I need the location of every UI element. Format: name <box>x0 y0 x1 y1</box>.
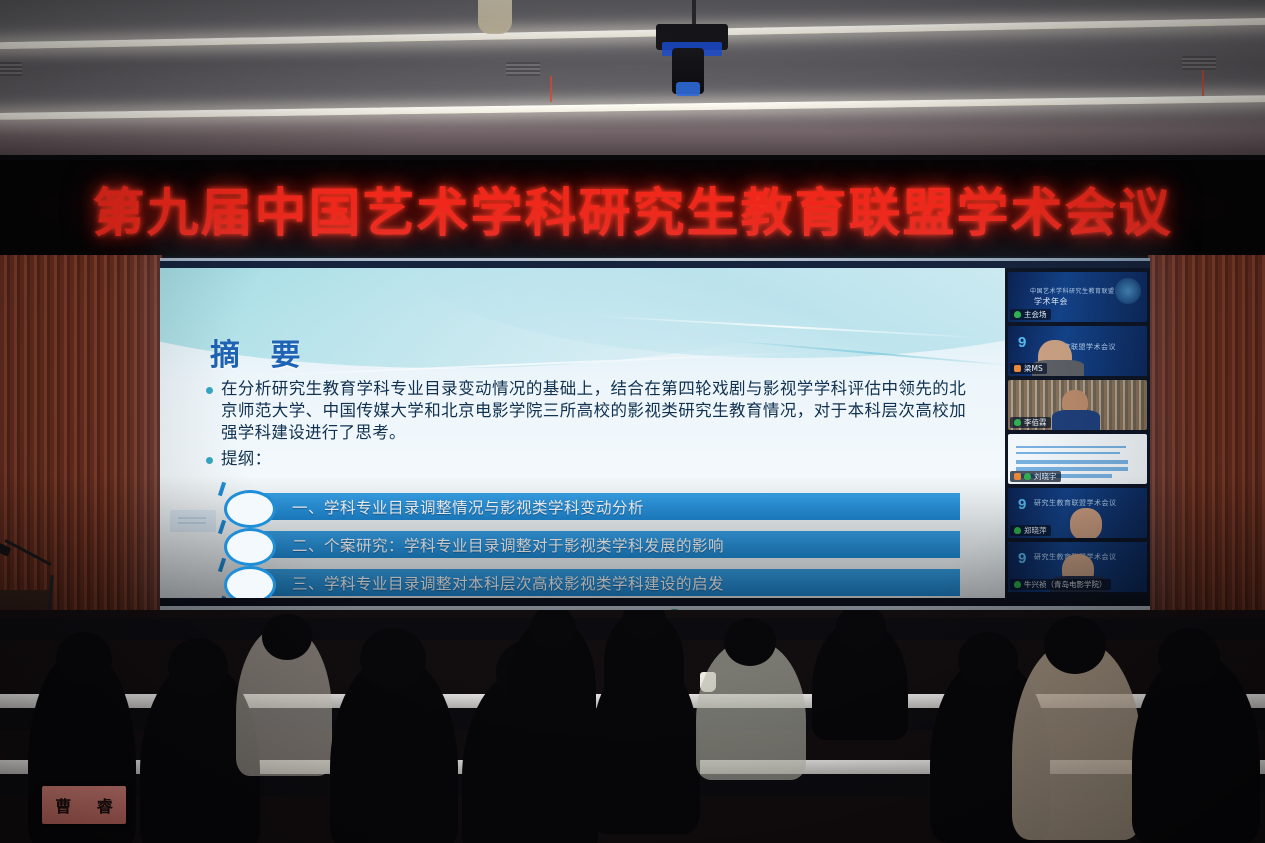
audience-head <box>724 618 776 666</box>
outline-connector <box>218 596 226 598</box>
desk-nameplate: 曹 睿 <box>42 786 126 824</box>
participant-name: 郑晓萍 <box>1024 525 1047 536</box>
tile-banner-title: 研究生教育联盟学术会议 <box>1034 498 1117 508</box>
audience-head <box>958 632 1018 688</box>
outline-row: 三、学科专业目录调整对本科层次高校影视类学科建设的启发 <box>200 566 970 598</box>
participant-name: 刘晓宇 <box>1034 471 1057 482</box>
slide-bullet-item: 在分析研究生教育学科专业目录变动情况的基础上，结合在第四轮戏剧与影视学学科评估中… <box>206 378 966 444</box>
participant-name: 梁MS <box>1024 363 1043 374</box>
slide-outline-list: 一、学科专业目录调整情况与影视类学科变动分析 二、个案研究：学科专业目录调整对于… <box>200 490 970 598</box>
slide-bullet-list: 在分析研究生教育学科专业目录变动情况的基础上，结合在第四轮戏剧与影视学学科评估中… <box>206 378 966 474</box>
ceiling <box>0 0 1265 160</box>
participant-tile-2[interactable]: 9 教育联盟学术会议 梁MS <box>1008 326 1147 376</box>
mic-on-icon <box>1014 419 1021 426</box>
participant-tile-5[interactable]: 9 研究生教育联盟学术会议 郑晓萍 <box>1008 488 1147 538</box>
tile-banner-subtitle: 学术年会 <box>1034 296 1068 307</box>
conference-hall-photo: 第九届中国艺术学科研究生教育联盟学术会议 摘 要 在分析研究生教育学科专业目录变… <box>0 0 1265 843</box>
slide-bullet-item: 提纲： <box>206 448 966 470</box>
outline-circle-icon <box>224 490 276 528</box>
presenter-badge-icon <box>1014 473 1021 480</box>
document-line <box>1016 460 1128 464</box>
participant-video-strip[interactable]: 中国艺术学科研究生教育联盟 学术年会 主会场 9 教育联盟学术会议 梁MS <box>1005 268 1150 598</box>
led-banner-text: 第九届中国艺术学科研究生教育联盟学术会议 <box>92 171 1172 246</box>
ceiling-vent-left <box>506 62 540 76</box>
outline-circle-icon <box>224 528 276 566</box>
document-line <box>1016 446 1126 448</box>
audience-area <box>0 610 1265 843</box>
participant-shoulders <box>1052 410 1100 430</box>
outline-bar: 三、学科专业目录调整对本科层次高校影视类学科建设的启发 <box>256 569 960 596</box>
participant-tile-3[interactable]: 李佰霖 <box>1008 380 1147 430</box>
mic-on-icon <box>1014 527 1021 534</box>
outline-item-text: 三、学科专业目录调整对本科层次高校影视类学科建设的启发 <box>256 572 724 594</box>
participant-tile-1[interactable]: 中国艺术学科研究生教育联盟 学术年会 主会场 <box>1008 272 1147 322</box>
ceiling-light-strip-lower <box>0 95 1265 121</box>
tile-edition-number: 9 <box>1018 550 1026 567</box>
tile-banner-title: 中国艺术学科研究生教育联盟 <box>1030 286 1115 295</box>
mic-muted-icon <box>1014 365 1021 372</box>
participant-name-bar: 牛兴祯（青岛电影学院） <box>1010 579 1111 590</box>
outline-row: 一、学科专业目录调整情况与影视类学科变动分析 <box>200 490 970 524</box>
projection-screen: 摘 要 在分析研究生教育学科专业目录变动情况的基础上，结合在第四轮戏剧与影视学学… <box>160 258 1150 610</box>
participant-name: 主会场 <box>1024 309 1047 320</box>
outline-connector <box>218 482 226 497</box>
participant-name-bar: 刘晓宇 <box>1010 471 1061 482</box>
stage-spotlight <box>648 0 736 101</box>
outline-circle-icon <box>224 566 276 598</box>
outline-item-text: 二、个案研究：学科专业目录调整对于影视类学科发展的影响 <box>256 534 724 556</box>
led-banner: 第九届中国艺术学科研究生教育联盟学术会议 <box>0 160 1265 256</box>
ceiling-light-strip-upper <box>0 17 1265 50</box>
ceiling-vent-right <box>1182 56 1216 70</box>
mic-on-icon <box>1014 311 1021 318</box>
ceiling-pendant-lamp <box>478 0 512 34</box>
ceiling-vent-far-left <box>0 62 22 76</box>
audience-head <box>168 638 228 696</box>
participant-name-bar: 郑晓萍 <box>1010 525 1051 536</box>
participant-name: 李佰霖 <box>1024 417 1047 428</box>
outline-bar: 二、个案研究：学科专业目录调整对于影视类学科发展的影响 <box>256 531 960 558</box>
bullet-dot-icon <box>206 387 213 394</box>
document-line <box>1016 452 1120 454</box>
participant-face <box>1070 508 1102 538</box>
audience-head <box>1044 616 1106 674</box>
outline-item-text: 一、学科专业目录调整情况与影视类学科变动分析 <box>256 496 644 518</box>
nameplate-text: 曹 睿 <box>45 793 123 817</box>
outline-bar: 一、学科专业目录调整情况与影视类学科变动分析 <box>256 493 960 520</box>
participant-name-bar: 李佰霖 <box>1010 417 1051 428</box>
presentation-slide: 摘 要 在分析研究生教育学科专业目录变动情况的基础上，结合在第四轮戏剧与影视学学… <box>160 268 1005 598</box>
participant-name-bar: 主会场 <box>1010 309 1051 320</box>
ceiling-vent-led-right <box>1202 70 1204 96</box>
wood-wall-right <box>1148 255 1265 655</box>
bullet-dot-icon <box>206 457 213 464</box>
spotlight-lens <box>676 82 700 96</box>
screen-window-topbar <box>160 258 1150 268</box>
slide-bullet-text: 在分析研究生教育学科专业目录变动情况的基础上，结合在第四轮戏剧与影视学学科评估中… <box>221 378 966 444</box>
participant-name-bar: 梁MS <box>1010 363 1047 374</box>
participant-tile-4[interactable]: 刘晓宇 <box>1008 434 1147 484</box>
tile-edition-number: 9 <box>1018 334 1026 351</box>
slide-title: 摘 要 <box>210 330 310 374</box>
audience-head <box>360 628 426 690</box>
tile-glow <box>1115 278 1141 304</box>
tile-edition-number: 9 <box>1018 496 1026 513</box>
audience-head <box>1158 628 1220 686</box>
audience-head <box>56 632 112 686</box>
mic-on-icon <box>1024 473 1031 480</box>
mic-on-icon <box>1014 581 1021 588</box>
participant-tile-6-active-speaker[interactable]: 9 研究生教育联盟学术会议 牛兴祯（青岛电影学院） <box>1008 542 1147 592</box>
ceiling-vent-led-left <box>550 76 552 102</box>
participant-name: 牛兴祯（青岛电影学院） <box>1024 579 1107 590</box>
audience-head <box>262 614 312 660</box>
slide-bullet-text: 提纲： <box>221 448 271 470</box>
spotlight-rod <box>692 0 696 26</box>
outline-row: 二、个案研究：学科专业目录调整对于影视类学科发展的影响 <box>200 528 970 562</box>
